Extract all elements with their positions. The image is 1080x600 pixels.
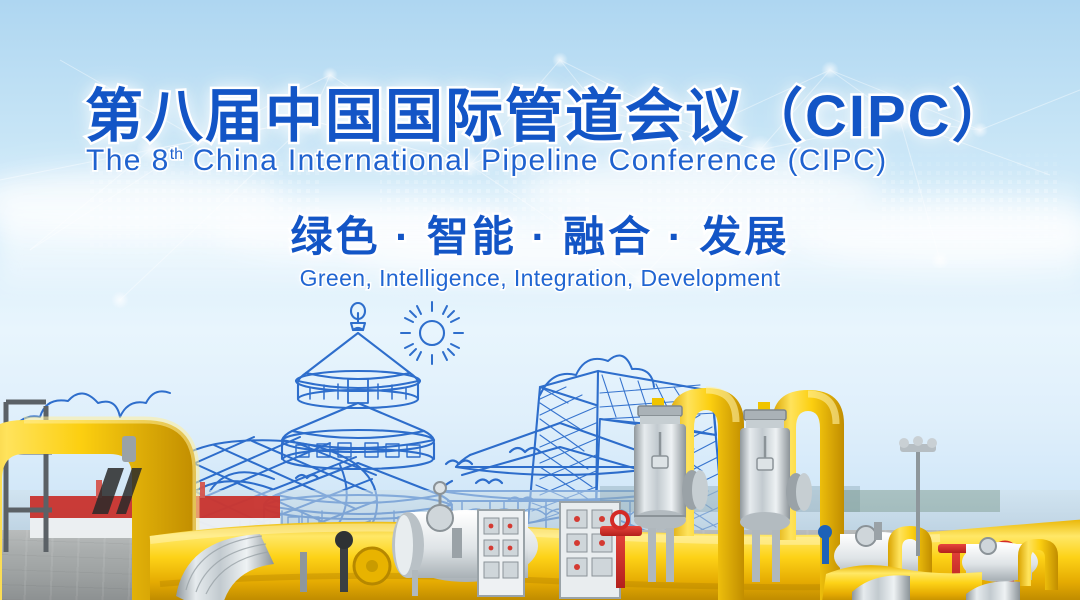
pipeline-plant-photo — [0, 340, 1080, 600]
slogan-chinese: 绿色 · 智能 · 融合 · 发展 — [0, 203, 1080, 264]
slogan-english: Green, Intelligence, Integration, Develo… — [0, 265, 1080, 292]
title-english-prefix: The 8 — [86, 144, 170, 177]
conference-banner: 第八届中国国际管道会议（CIPC） The 8th China Internat… — [0, 0, 1080, 600]
title-chinese: 第八届中国国际管道会议（CIPC） — [85, 69, 1012, 153]
title-english-ordinal-suffix: th — [170, 146, 183, 163]
title-english: The 8th China International Pipeline Con… — [86, 144, 888, 178]
title-english-rest: China International Pipeline Conference … — [183, 144, 887, 177]
